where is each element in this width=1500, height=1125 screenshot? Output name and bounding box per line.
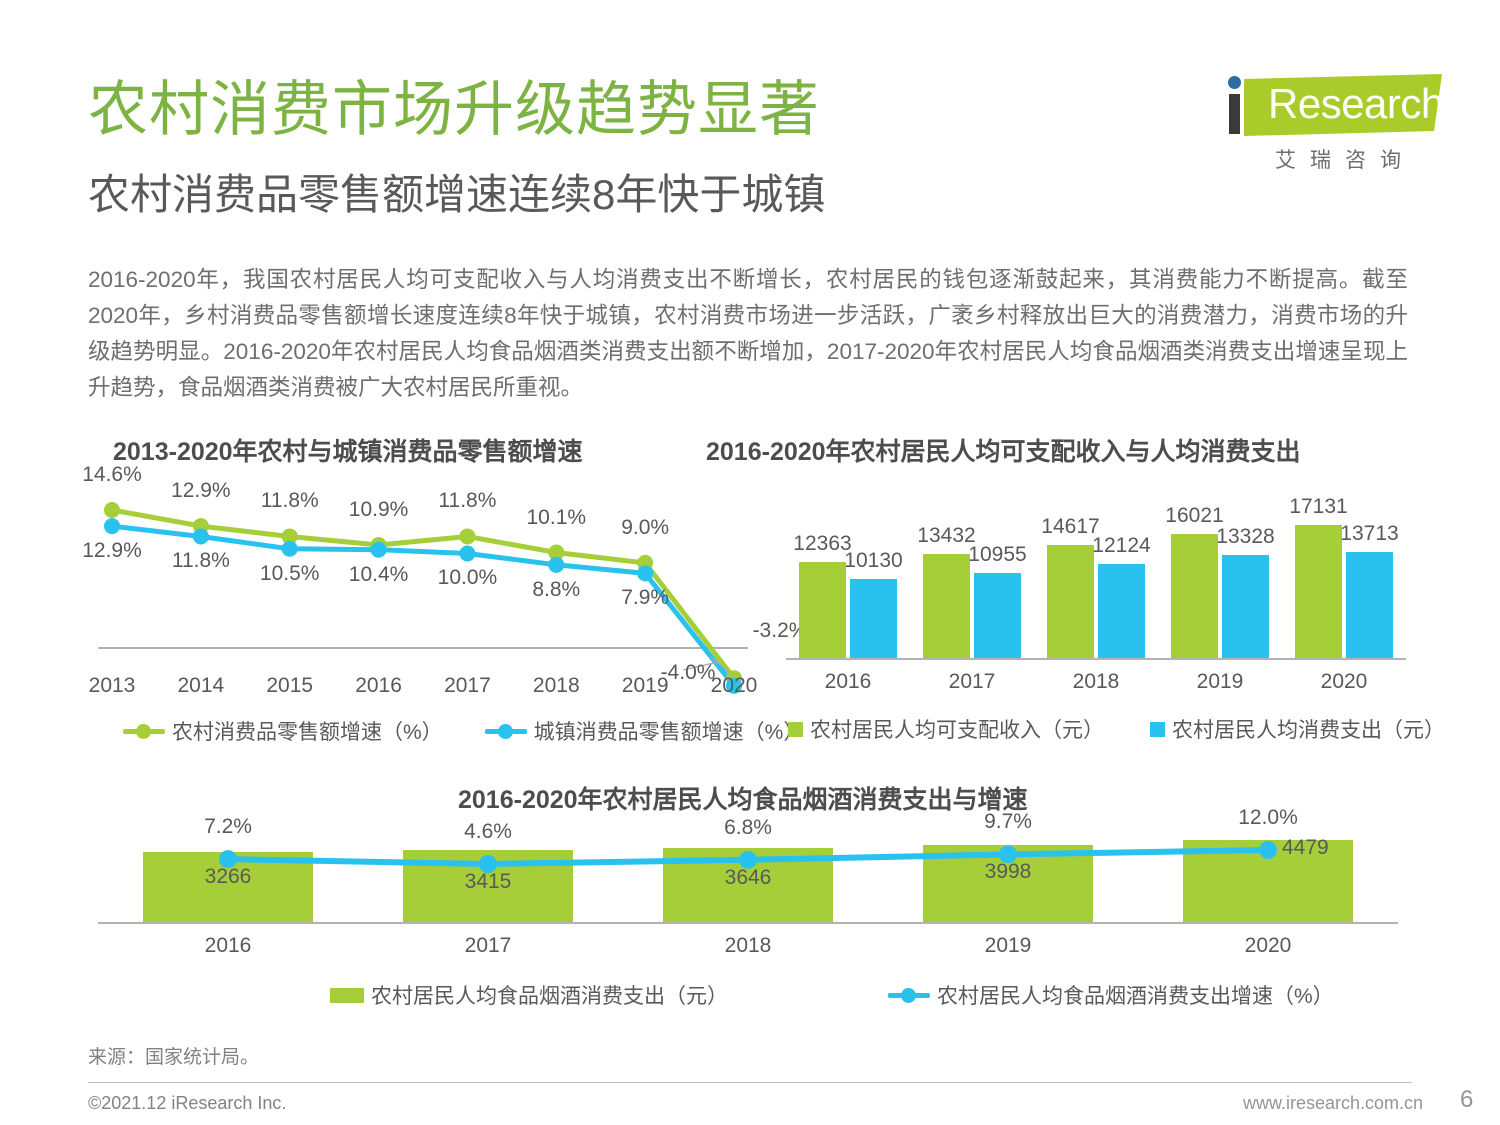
legend-line-swatch-blue bbox=[888, 993, 930, 998]
chart3-x-label: 2017 bbox=[428, 934, 548, 958]
chart3-value-label: 3266 bbox=[168, 865, 288, 889]
chart3-growth-label: 12.0% bbox=[1208, 806, 1328, 830]
iresearch-logo: Research 艾瑞咨询 bbox=[1222, 68, 1442, 180]
chart3-value-label: 4479 bbox=[1282, 836, 1372, 860]
chart2-data-label: 12124 bbox=[1077, 534, 1167, 558]
page-subtitle: 农村消费品零售额增速连续8年快于城镇 bbox=[88, 172, 825, 217]
chart-bar-income-expenditure: 1236310130134321095514617121241602113328… bbox=[786, 488, 1406, 678]
legend-square-swatch-green bbox=[788, 722, 803, 737]
chart1-legend: 农村消费品零售额增速（%） 城镇消费品零售额增速（%） bbox=[123, 716, 804, 746]
chart1-data-label: 11.8% bbox=[422, 489, 512, 513]
chart1-x-label: 2020 bbox=[689, 674, 779, 698]
chart-combo-food-expenditure: 7.2%4.6%6.8%9.7%12.0%3266341536463998447… bbox=[98, 826, 1398, 948]
logo-mark: Research bbox=[1222, 68, 1442, 140]
chart2-bar[interactable] bbox=[1346, 552, 1393, 658]
chart2-data-label: 10130 bbox=[829, 549, 919, 573]
legend-label: 农村居民人均消费支出（元） bbox=[1172, 714, 1445, 744]
legend-label: 农村居民人均可支配收入（元） bbox=[810, 714, 1104, 744]
chart1-data-label: 10.4% bbox=[334, 563, 424, 587]
chart2-bar[interactable] bbox=[850, 579, 897, 658]
legend-label: 农村消费品零售额增速（%） bbox=[172, 716, 443, 746]
chart1-data-label: 12.9% bbox=[67, 539, 157, 563]
chart3-value-label: 3998 bbox=[948, 860, 1068, 884]
chart1-x-label: 2017 bbox=[422, 674, 512, 698]
legend-line-swatch-blue bbox=[485, 729, 527, 734]
page-title: 农村消费市场升级趋势显著 bbox=[88, 78, 820, 141]
chart3-title: 2016-2020年农村居民人均食品烟酒消费支出与增速 bbox=[458, 780, 1028, 816]
chart1-x-label: 2019 bbox=[600, 674, 690, 698]
chart1-data-label: 10.5% bbox=[245, 562, 335, 586]
legend-item-food-growth[interactable]: 农村居民人均食品烟酒消费支出增速（%） bbox=[888, 980, 1334, 1010]
chart2-x-label: 2019 bbox=[1175, 670, 1265, 694]
chart2-data-label: 10955 bbox=[953, 543, 1043, 567]
chart3-growth-label: 7.2% bbox=[168, 815, 288, 839]
chart3-legend: 农村居民人均食品烟酒消费支出（元） 农村居民人均食品烟酒消费支出增速（%） bbox=[330, 980, 1334, 1010]
legend-label: 农村居民人均食品烟酒消费支出（元） bbox=[371, 980, 728, 1010]
chart-line-retail-growth: 14.6%12.9%11.8%10.9%11.8%10.1%9.0%-3.2%1… bbox=[98, 488, 748, 678]
chart1-data-label: 10.0% bbox=[422, 566, 512, 590]
logo-chinese-name: 艾瑞咨询 bbox=[1248, 144, 1442, 174]
footer-divider bbox=[88, 1082, 1412, 1083]
chart2-legend: 农村居民人均可支配收入（元） 农村居民人均消费支出（元） bbox=[788, 714, 1445, 744]
chart3-growth-label: 4.6% bbox=[428, 820, 548, 844]
chart2-bar[interactable] bbox=[1047, 545, 1094, 658]
chart3-x-label: 2019 bbox=[948, 934, 1068, 958]
legend-item-disposable-income[interactable]: 农村居民人均可支配收入（元） bbox=[788, 714, 1104, 744]
chart1-data-label: 12.9% bbox=[156, 479, 246, 503]
logo-i-dot-icon bbox=[1228, 76, 1241, 89]
copyright-text: ©2021.12 iResearch Inc. bbox=[88, 1093, 286, 1114]
slide-page: 农村消费市场升级趋势显著 农村消费品零售额增速连续8年快于城镇 Research… bbox=[0, 0, 1500, 1125]
chart2-bar[interactable] bbox=[1098, 564, 1145, 658]
chart2-bar[interactable] bbox=[799, 562, 846, 658]
chart3-axis bbox=[98, 922, 1398, 924]
chart1-x-label: 2014 bbox=[156, 674, 246, 698]
legend-label: 农村居民人均食品烟酒消费支出增速（%） bbox=[937, 980, 1334, 1010]
chart3-x-label: 2016 bbox=[168, 934, 288, 958]
chart1-data-label: 9.0% bbox=[600, 516, 690, 540]
chart1-x-label: 2016 bbox=[334, 674, 424, 698]
page-number: 6 bbox=[1460, 1086, 1473, 1114]
chart1-data-label: 11.8% bbox=[156, 549, 246, 573]
chart1-title: 2013-2020年农村与城镇消费品零售额增速 bbox=[113, 432, 583, 468]
chart2-data-label: 13713 bbox=[1325, 522, 1415, 546]
legend-item-food-expenditure[interactable]: 农村居民人均食品烟酒消费支出（元） bbox=[330, 980, 728, 1010]
chart1-data-label: 10.1% bbox=[511, 506, 601, 530]
chart2-x-label: 2017 bbox=[927, 670, 1017, 694]
logo-i-stem-icon bbox=[1229, 94, 1240, 134]
chart2-bar[interactable] bbox=[923, 554, 970, 658]
legend-square-swatch-blue bbox=[1150, 722, 1165, 737]
chart2-x-label: 2018 bbox=[1051, 670, 1141, 694]
chart2-data-label: 17131 bbox=[1274, 495, 1364, 519]
chart2-x-label: 2020 bbox=[1299, 670, 1389, 694]
body-paragraph: 2016-2020年，我国农村居民人均可支配收入与人均消费支出不断增长，农村居民… bbox=[88, 262, 1408, 406]
chart3-x-label: 2018 bbox=[688, 934, 808, 958]
chart3-x-label: 2020 bbox=[1208, 934, 1328, 958]
chart1-data-label: 10.9% bbox=[334, 498, 424, 522]
chart2-data-label: 13328 bbox=[1201, 525, 1291, 549]
chart1-data-label: 14.6% bbox=[67, 463, 157, 487]
chart1-data-label: 7.9% bbox=[600, 586, 690, 610]
legend-rect-swatch-green bbox=[330, 988, 364, 1003]
legend-line-swatch-green bbox=[123, 729, 165, 734]
chart2-title: 2016-2020年农村居民人均可支配收入与人均消费支出 bbox=[706, 432, 1301, 468]
chart1-x-label: 2013 bbox=[67, 674, 157, 698]
source-note: 来源：国家统计局。 bbox=[88, 1042, 259, 1069]
website-url: www.iresearch.com.cn bbox=[1243, 1093, 1423, 1114]
chart2-bar[interactable] bbox=[1171, 534, 1218, 658]
chart2-x-label: 2016 bbox=[803, 670, 893, 694]
chart2-axis bbox=[786, 658, 1406, 660]
chart3-value-label: 3415 bbox=[428, 870, 548, 894]
chart2-bar[interactable] bbox=[974, 573, 1021, 658]
chart3-growth-label: 6.8% bbox=[688, 816, 808, 840]
chart1-data-label: 11.8% bbox=[245, 489, 335, 513]
chart1-x-label: 2018 bbox=[511, 674, 601, 698]
chart1-x-label: 2015 bbox=[245, 674, 335, 698]
legend-item-rural-retail[interactable]: 农村消费品零售额增速（%） bbox=[123, 716, 443, 746]
chart3-value-label: 3646 bbox=[688, 866, 808, 890]
chart1-data-label: 8.8% bbox=[511, 578, 601, 602]
legend-item-urban-retail[interactable]: 城镇消费品零售额增速（%） bbox=[485, 716, 805, 746]
legend-label: 城镇消费品零售额增速（%） bbox=[534, 716, 805, 746]
chart3-growth-label: 9.7% bbox=[948, 810, 1068, 834]
logo-wordmark: Research bbox=[1268, 82, 1444, 126]
legend-item-consumption-expenditure[interactable]: 农村居民人均消费支出（元） bbox=[1150, 714, 1445, 744]
chart2-bar[interactable] bbox=[1222, 555, 1269, 658]
